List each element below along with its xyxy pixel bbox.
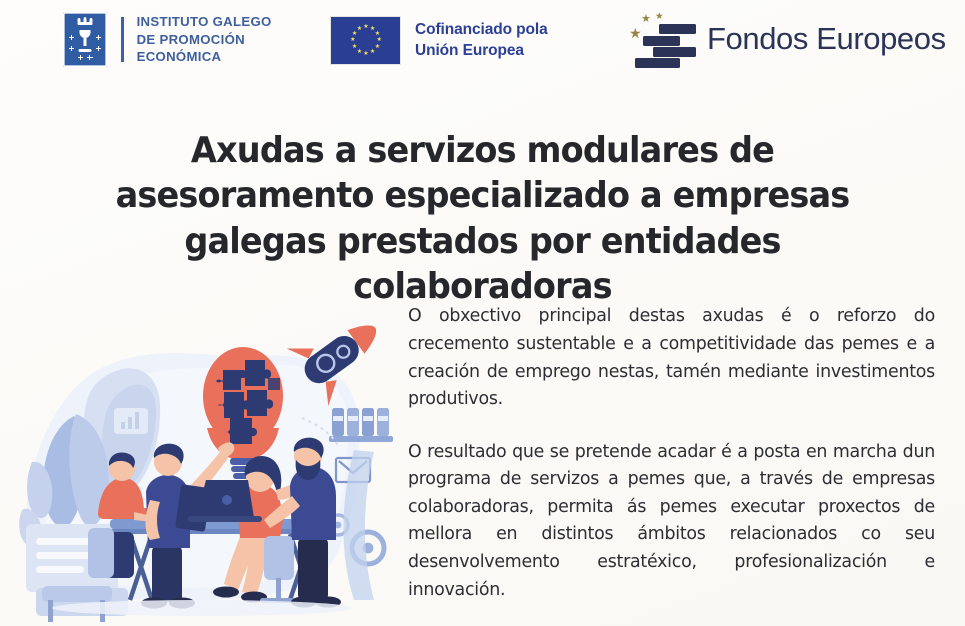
fondos-europeos-steps-icon: ★ ★ ★ — [624, 10, 696, 68]
chair-seat — [88, 528, 114, 578]
cross-icon — [69, 46, 74, 51]
logo-fondos-europeos: ★ ★ ★ Fondos Europeos — [624, 10, 946, 68]
logo-eu-label: Cofinanciado pola Unión Europea — [415, 20, 548, 61]
eu-star-icon — [363, 52, 367, 56]
cross-icon — [69, 35, 74, 40]
cross-icon — [96, 46, 101, 51]
eu-star-icon — [363, 25, 367, 29]
eu-star-icon — [357, 27, 361, 31]
chair-seat — [264, 536, 294, 580]
logo-igape: INSTITUTO GALEGO DE PROMOCIÓN ECONÓMICA — [63, 12, 272, 67]
eu-flag-icon — [330, 16, 401, 65]
cross-icon — [78, 55, 83, 60]
logo-european-union: Cofinanciado pola Unión Europea — [330, 16, 548, 65]
floor-shadow — [52, 600, 352, 616]
body-text-column: O obxectivo principal destas axudas é o … — [408, 286, 935, 622]
cross-icon — [96, 35, 101, 40]
chalice-icon — [78, 30, 93, 52]
eu-star-icon — [350, 38, 354, 42]
crown-icon — [78, 18, 93, 25]
xunta-galicia-coat-of-arms — [63, 12, 107, 67]
eu-star-icon — [370, 27, 374, 31]
paragraph-result: O resultado que se pretende acadar é a p… — [408, 439, 935, 604]
logo-divider — [121, 17, 124, 62]
eu-star-icon — [352, 45, 356, 49]
paragraph-objective: O obxectivo principal destas axudas é o … — [408, 303, 935, 413]
eu-star-icon — [357, 50, 361, 54]
eu-star-icon — [375, 45, 379, 49]
logo-fondos-label: Fondos Europeos — [707, 21, 946, 57]
illustration-svg — [2, 300, 394, 622]
eu-star-icon — [370, 50, 374, 54]
logo-bar: INSTITUTO GALEGO DE PROMOCIÓN ECONÓMICA … — [0, 0, 965, 88]
page-title: Axudas a servizos modulares de asesorame… — [61, 128, 905, 310]
logo-igape-label: INSTITUTO GALEGO DE PROMOCIÓN ECONÓMICA — [137, 13, 272, 66]
eu-star-icon — [352, 32, 356, 36]
poster-page: INSTITUTO GALEGO DE PROMOCIÓN ECONÓMICA … — [0, 0, 965, 626]
team-collaboration-illustration — [2, 300, 394, 622]
cross-icon — [87, 55, 92, 60]
